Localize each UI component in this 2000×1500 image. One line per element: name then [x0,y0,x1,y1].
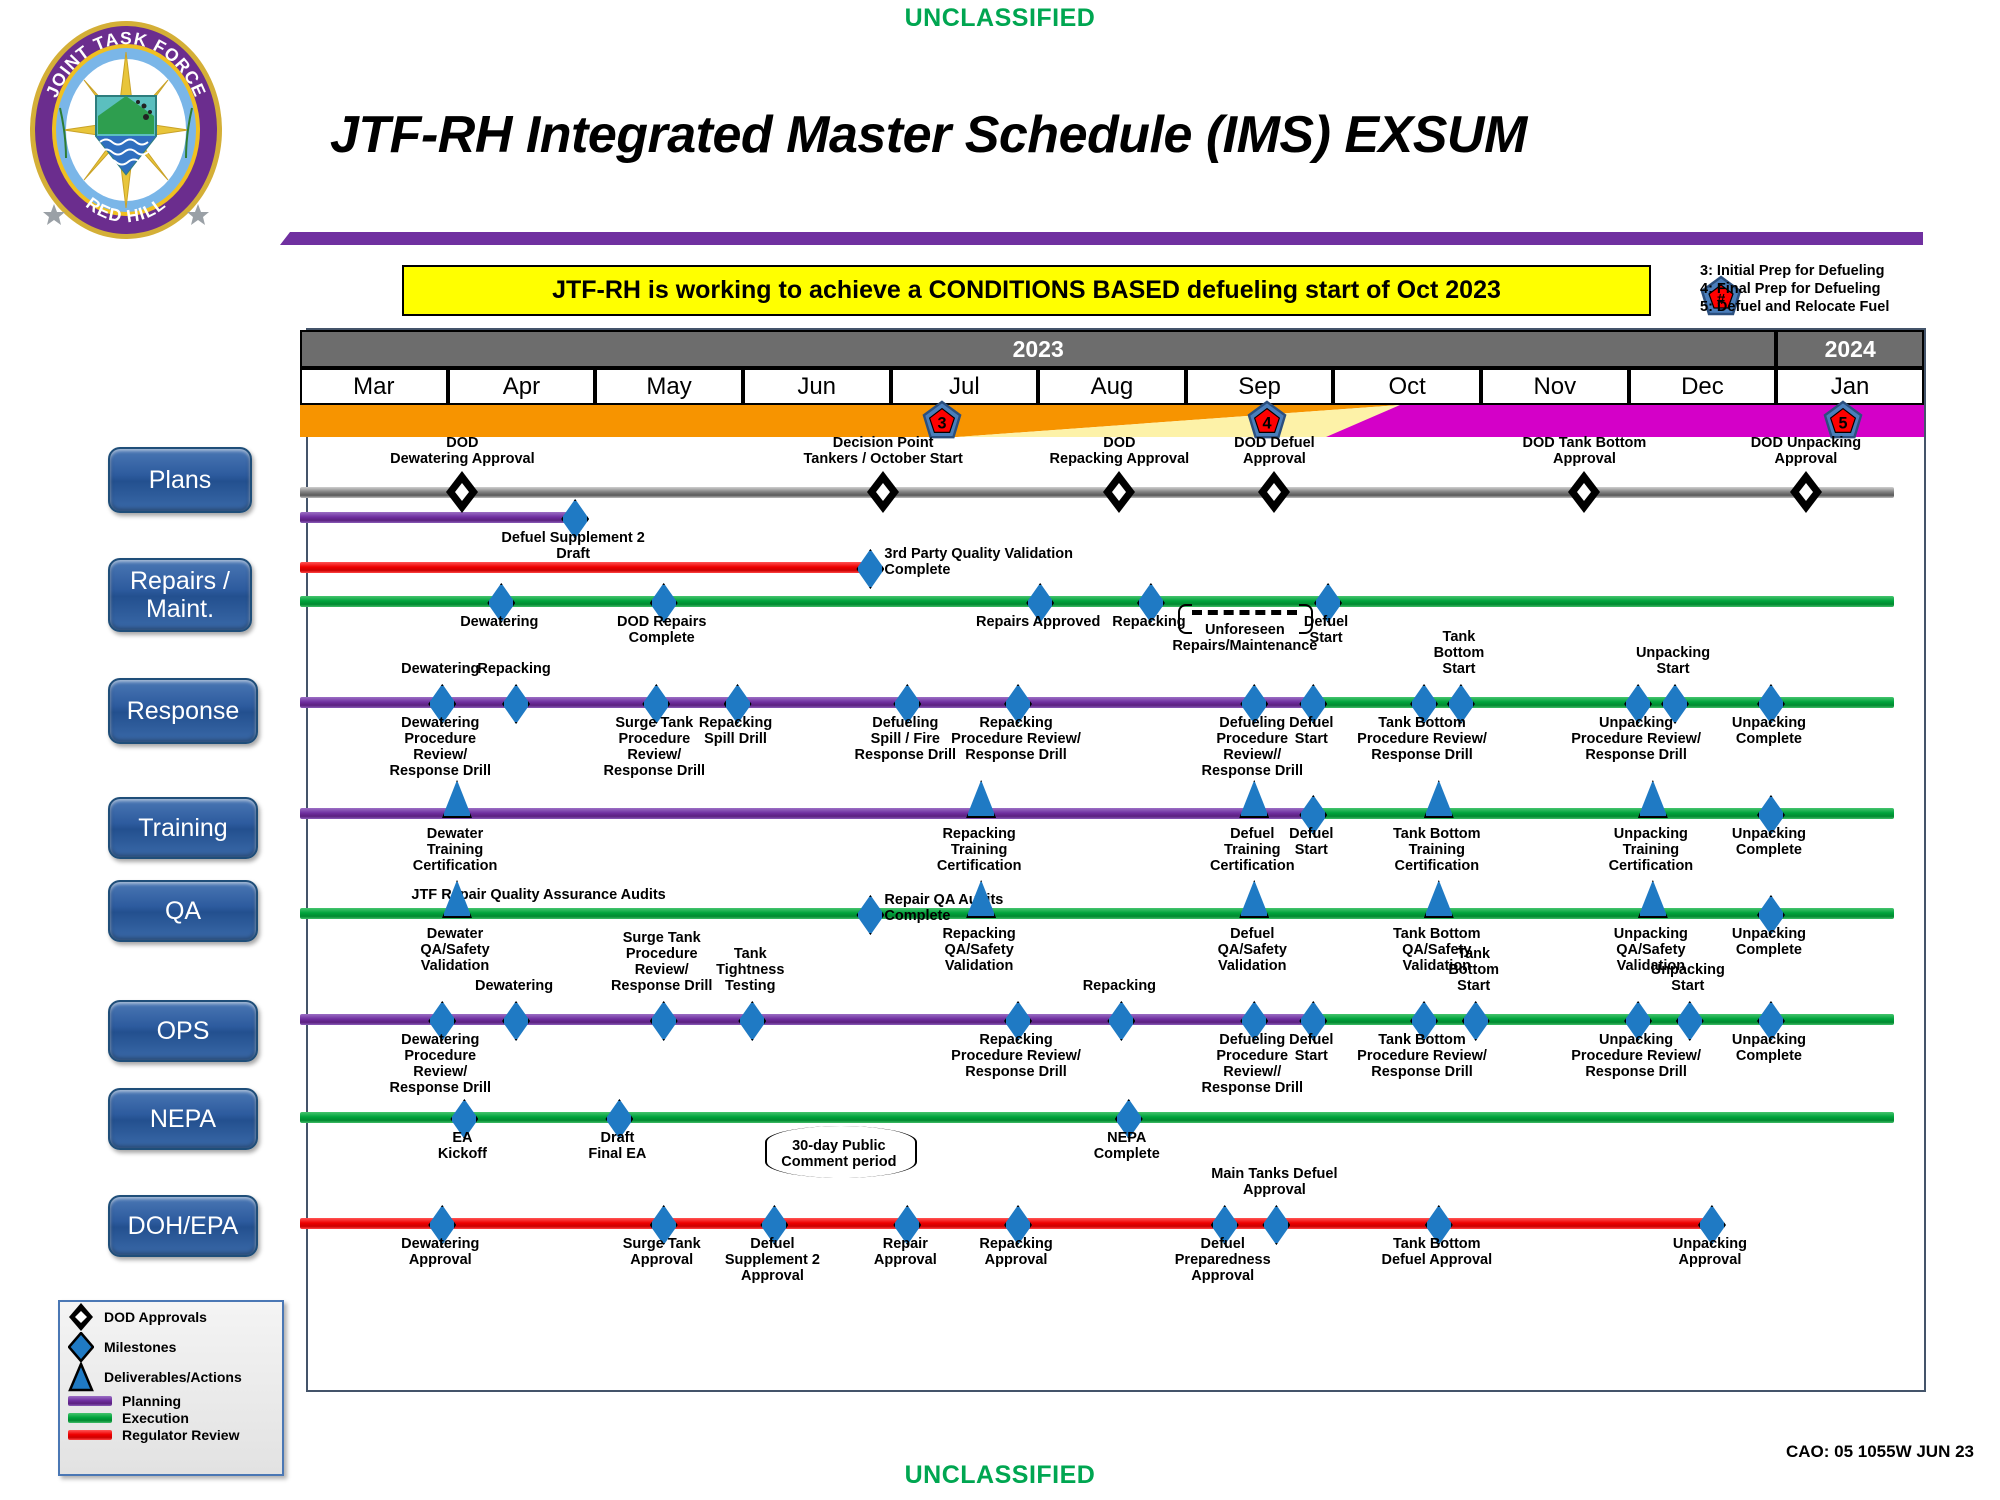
marker-label: Draft Final EA [527,1130,707,1162]
marker-label: Defuel Supplement 2 Draft [483,530,663,562]
legend-label-milestones: Milestones [104,1339,176,1355]
marker-label: Dewater QA/Safety Validation [365,926,545,974]
timeline-bar-Plans-planning [300,512,573,523]
marker-label: EA Kickoff [372,1130,552,1162]
swimlane-button-repairs[interactable]: Repairs / Maint. [108,558,252,632]
swimlane-button-response[interactable]: Response [108,678,258,744]
marker-label: Defuel Preparedness Approval [1133,1236,1313,1284]
timeline-bar-repairs-regulator [300,562,868,573]
marker-label: Dewatering [409,614,589,630]
marker-label: Tank Bottom Defuel Approval [1347,1236,1527,1268]
marker-label: DOD Repacking Approval [1029,435,1209,467]
cao-timestamp: CAO: 05 1055W JUN 23 [1786,1442,1974,1462]
swimlane-button-training[interactable]: Training [108,797,258,859]
diamond-dod-icon [68,1302,94,1332]
marker-label: Unpacking Complete [1679,715,1859,747]
marker-label: Dewatering Procedure Review/ Response Dr… [350,1032,530,1096]
legend-row-execution: Execution [60,1409,282,1426]
marker-label: Repacking Procedure Review/ Response Dri… [926,1032,1106,1080]
marker-label: Repacking QA/Safety Validation [889,926,1069,974]
marker-label: DOD Repairs Complete [572,614,752,646]
marker-label: Dewatering Approval [350,1236,530,1268]
swimlane-button-qa[interactable]: QA [108,880,258,942]
marker-label: Unpacking Approval [1620,1236,1800,1268]
marker-label: Tank Bottom Training Certification [1347,826,1527,874]
legend-swatch-execution [68,1413,112,1423]
dod-approval-marker [445,470,479,514]
legend-row-deliverables: Deliverables/Actions [60,1362,282,1392]
legend-swatch-planning [68,1396,112,1406]
swimlane-button-dohepa[interactable]: DOH/EPA [108,1195,258,1257]
marker-label: Repacking [424,661,604,677]
marker-label: Repacking Training Certification [889,826,1069,874]
marker-label: Unpacking Start [1598,962,1778,994]
marker-label: Repacking Spill Drill [646,715,826,747]
dod-approval-marker [1257,470,1291,514]
marker-label: Tank Bottom Start [1384,946,1564,994]
marker-label: Tank Bottom Procedure Review/ Response D… [1332,1032,1512,1080]
marker-label: Defuel QA/Safety Validation [1162,926,1342,974]
diamond-blue-icon [68,1332,94,1362]
marker-label: Repacking [1059,614,1239,630]
timeline-bar-repairs-execution [300,596,1894,607]
milestone-marker [1107,1001,1135,1041]
marker-label: Tank Bottom Procedure Review/ Response D… [1332,715,1512,763]
marker-label: Decision Point Tankers / October Start [793,435,973,467]
bar-label-qa: JTF Repair Quality Assurance Audits [389,887,689,903]
dod-approval-marker [866,470,900,514]
marker-label: NEPA Complete [1037,1130,1217,1162]
deliverable-marker [1638,780,1668,818]
legend-label-planning: Planning [122,1393,181,1409]
legend-swatch-regulator [68,1430,112,1440]
deliverable-marker [1638,880,1668,918]
marker-label: Main Tanks Defuel Approval [1184,1166,1364,1198]
swimlane-button-ops[interactable]: OPS [108,1000,258,1062]
marker-label: Dewatering Procedure Review/ Response Dr… [350,715,530,779]
deliverable-marker [1424,880,1454,918]
marker-label: Unpacking Start [1583,645,1763,677]
marker-label: Unpacking Complete [1679,826,1859,858]
marker-label: Repacking [1029,978,1209,994]
marker-label: Tank Tightness Testing [660,946,840,994]
timeline-bar-ops-execution [1311,1014,1894,1025]
legend-row-milestones: Milestones [60,1332,282,1362]
legend-row-dod-approvals: DOD Approvals [60,1302,282,1332]
dod-approval-marker [1102,470,1136,514]
deliverable-marker [1424,780,1454,818]
marker-label: DOD Tank Bottom Approval [1494,435,1674,467]
marker-label: DOD Defuel Approval [1184,435,1364,467]
timeline-bar-training-execution [1311,808,1894,819]
legend-row-regulator: Regulator Review [60,1426,282,1443]
milestone-marker [738,1001,766,1041]
marker-label: DOD Dewatering Approval [372,435,552,467]
marker-label: Repacking Procedure Review/ Response Dri… [926,715,1106,763]
legend-label-dod-approvals: DOD Approvals [104,1309,207,1325]
deliverable-marker [1239,780,1269,818]
swimlane-button-Plans[interactable]: Plans [108,447,252,513]
annotation-label-nepa: 30-day Public Comment period [769,1138,909,1170]
deliverable-marker [1239,880,1269,918]
milestone-marker [650,1001,678,1041]
timeline-bar-nepa-execution [300,1112,1894,1123]
legend-row-planning: Planning [60,1392,282,1409]
dod-approval-marker [1789,470,1823,514]
swimlanes-layer: PlansDOD Dewatering ApprovalDecision Poi… [0,0,2000,1500]
triangle-blue-icon [68,1362,94,1392]
marker-label: Tank Bottom Start [1369,629,1549,677]
marker-label: DOD Unpacking Approval [1716,435,1896,467]
legend-label-deliverables: Deliverables/Actions [104,1369,242,1385]
chart-legend: DOD Approvals Milestones Deliverables/Ac… [58,1300,284,1476]
milestone-marker [856,549,884,589]
legend-label-execution: Execution [122,1410,189,1426]
marker-label: Repacking Approval [926,1236,1106,1268]
timeline-bar-Plans-dod [300,487,1894,498]
marker-label: 3rd Party Quality Validation Complete [884,546,1094,578]
timeline-bar-response-execution [1311,697,1894,708]
marker-label: Unpacking Complete [1679,926,1859,958]
dod-approval-marker [1567,470,1601,514]
swimlane-button-nepa[interactable]: NEPA [108,1088,258,1150]
marker-label: Unpacking Complete [1679,1032,1859,1064]
deliverable-marker [966,780,996,818]
milestone-marker [856,895,884,935]
deliverable-marker [442,780,472,818]
legend-label-regulator: Regulator Review [122,1427,239,1443]
marker-label: Dewater Training Certification [365,826,545,874]
